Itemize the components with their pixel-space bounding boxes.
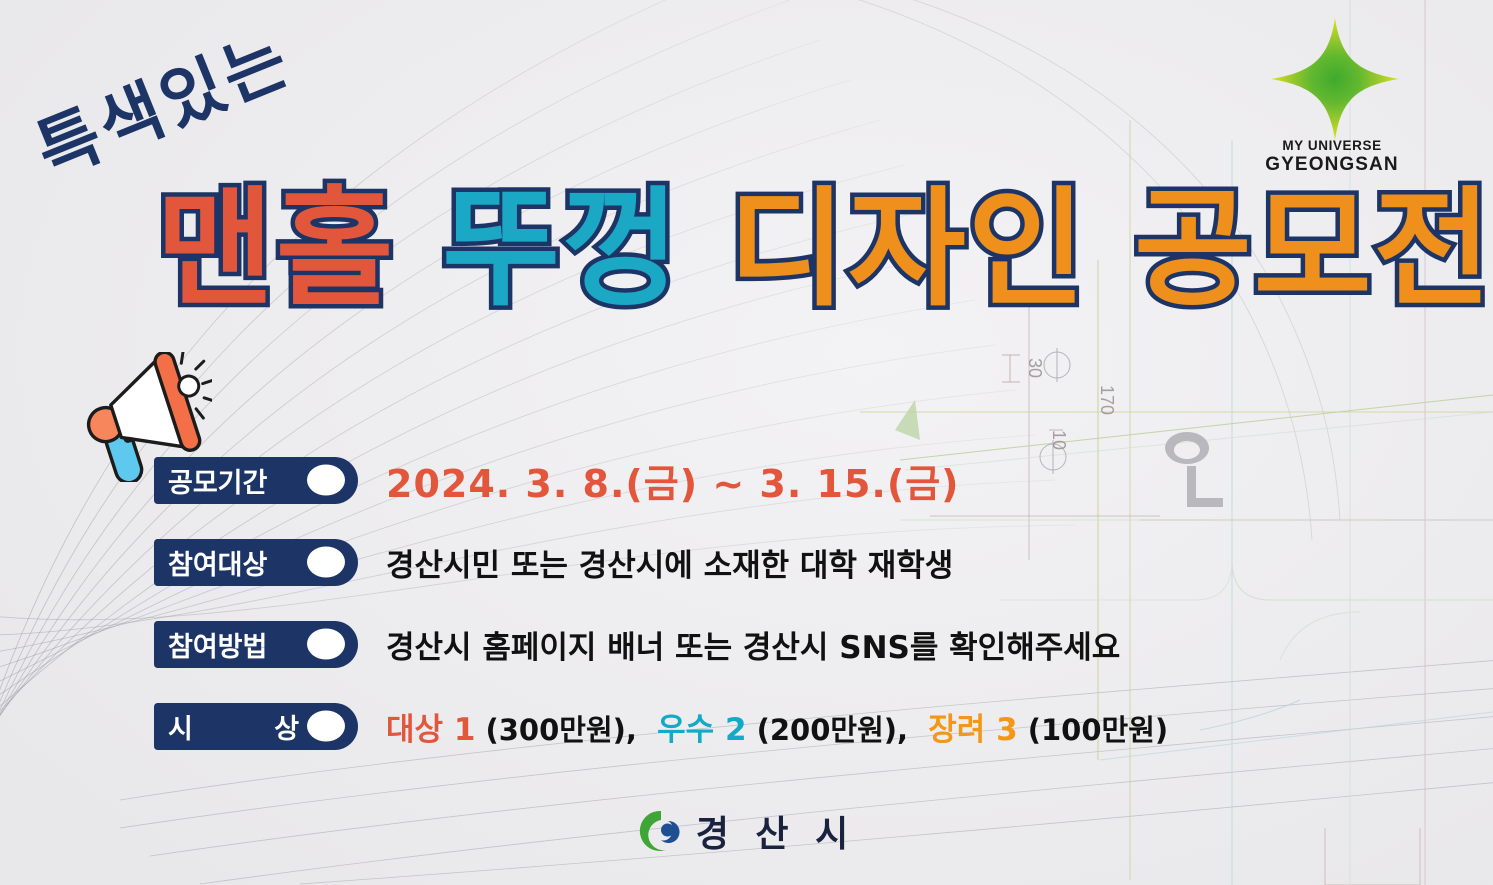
title-kicker: 특색있는 — [19, 4, 303, 196]
circle-bullet-icon — [307, 711, 345, 742]
value-part-5: (100만원) — [1018, 713, 1169, 747]
label-howto: 참여방법 — [168, 625, 267, 664]
value-eligibility: 경산시민 또는 경산시에 소재한 대학 재학생 — [386, 540, 953, 585]
label-eligibility: 참여대상 — [168, 543, 267, 582]
title-segment-contest: 디자인 공모전 — [728, 186, 1493, 314]
triangle-marker — [895, 400, 920, 440]
value-part-3: (200만원), — [747, 713, 929, 747]
four-point-star-icon — [1265, 14, 1400, 134]
dimension-170: 170 — [1097, 385, 1117, 415]
title-segment-manhole: 맨홀 — [156, 186, 396, 314]
label-pill-prizes: 시 상 — [154, 703, 358, 750]
label-pill-eligibility: 참여대상 — [154, 539, 358, 586]
title-segment-cover: 뚜껑 — [442, 186, 682, 314]
brand-name: GYEONGSAN — [1232, 154, 1432, 176]
dimension-10: 10 — [1049, 430, 1069, 450]
circle-bullet-icon — [307, 547, 345, 578]
label-pill-howto: 참여방법 — [154, 621, 358, 668]
label-period: 공모기간 — [168, 461, 267, 500]
info-row-eligibility: 참여대상 경산시민 또는 경산시에 소재한 대학 재학생 — [154, 535, 1454, 589]
brand-mark: MY UNIVERSE GYEONGSAN — [1232, 14, 1432, 194]
city-name: 경 산 시 — [696, 805, 855, 857]
value-part-4: 장려 3 — [928, 712, 1017, 748]
info-list: 공모기간 2024. 3. 8.(금) ~ 3. 15.(금) 참여대상 경산시… — [154, 453, 1454, 781]
value-howto: 경산시 홈페이지 배너 또는 경산시 SNS를 확인해주세요 — [386, 622, 1120, 667]
value-prizes: 대상 1 (300만원), 우수 2 (200만원), 장려 3 (100만원) — [386, 704, 1168, 749]
value-period: 2024. 3. 8.(금) ~ 3. 15.(금) — [386, 453, 960, 508]
info-row-howto: 참여방법 경산시 홈페이지 배너 또는 경산시 SNS를 확인해주세요 — [154, 617, 1454, 671]
dimension-30: 30 — [1025, 358, 1045, 378]
gyeongsan-swirl-icon — [638, 808, 684, 854]
info-row-prizes: 시 상 대상 1 (300만원), 우수 2 (200만원), 장려 3 (10… — [154, 699, 1454, 753]
info-row-period: 공모기간 2024. 3. 8.(금) ~ 3. 15.(금) — [154, 453, 1454, 507]
circle-bullet-icon — [307, 465, 345, 496]
label-pill-period: 공모기간 — [154, 457, 358, 504]
page-title: 맨홀 뚜껑 디자인 공모전 — [156, 186, 1493, 314]
value-part-2: 우수 2 — [657, 712, 746, 748]
poster-canvas: 30 170 10 — [0, 0, 1493, 885]
circle-bullet-icon — [307, 629, 345, 660]
footer-city-logo: 경 산 시 — [0, 805, 1493, 857]
value-part-0: 대상 1 — [386, 712, 475, 748]
value-part-1: (300만원), — [475, 713, 657, 747]
